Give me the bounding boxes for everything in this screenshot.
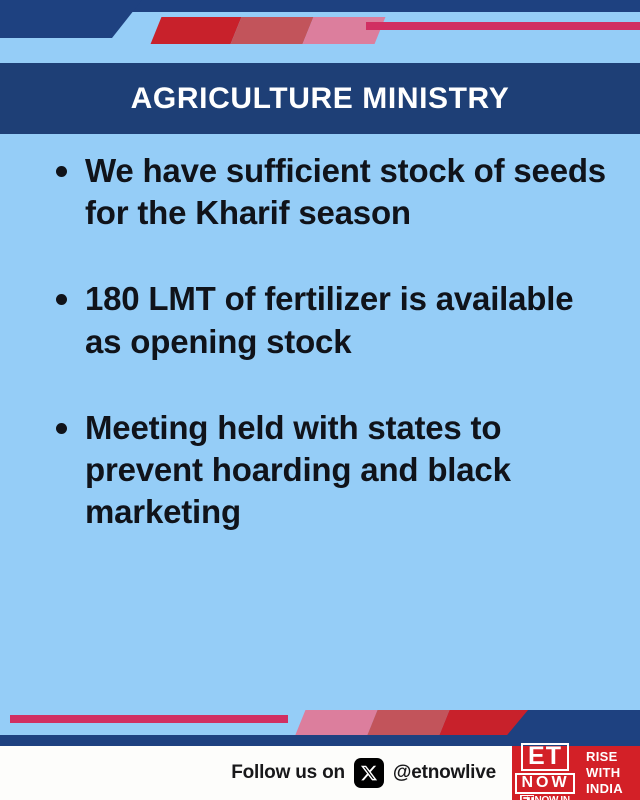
list-item-text: 180 LMT of fertilizer is available as op… — [85, 278, 606, 362]
etnow-logo-website-suffix: NOW.IN — [534, 795, 569, 800]
social-handle[interactable]: @etnowlive — [393, 762, 496, 784]
header-band: AGRICULTURE MINISTRY — [0, 63, 640, 134]
follow-label: Follow us on — [231, 762, 345, 784]
top-accent-bar-2 — [231, 17, 314, 44]
etnow-logo-et: ET — [521, 743, 569, 771]
list-item-text: We have sufficient stock of seeds for th… — [85, 150, 606, 234]
bullet-dot-icon — [56, 294, 67, 305]
list-item: 180 LMT of fertilizer is available as op… — [0, 278, 640, 362]
bottom-accent-bar-1 — [295, 710, 378, 737]
bottom-accent-bar-2 — [367, 710, 450, 737]
etnow-tagline-line-2: WITH — [586, 765, 620, 781]
etnow-tagline: RISE WITH INDIA — [578, 746, 640, 800]
etnow-logo[interactable]: ET NOW ETNOW.IN RISE WITH INDIA — [510, 746, 640, 800]
bottom-pink-rule — [10, 715, 288, 723]
etnow-tagline-line-3: INDIA — [586, 781, 623, 797]
etnow-logo-website-prefix: ET — [520, 795, 534, 800]
etnow-tagline-line-1: RISE — [586, 749, 618, 765]
list-item: Meeting held with states to prevent hoar… — [0, 407, 640, 534]
top-pink-rule — [366, 22, 640, 30]
list-item: We have sufficient stock of seeds for th… — [0, 150, 640, 234]
bullet-dot-icon — [56, 423, 67, 434]
etnow-logo-now: NOW — [515, 773, 574, 794]
top-accent-bar-1 — [151, 17, 242, 44]
list-item-text: Meeting held with states to prevent hoar… — [85, 407, 606, 534]
x-twitter-icon[interactable] — [354, 758, 384, 788]
news-card: AGRICULTURE MINISTRY We have sufficient … — [0, 0, 640, 800]
etnow-logo-mark: ET NOW ETNOW.IN — [512, 746, 578, 800]
footer-bar: Follow us on @etnowlive ET NOW ETNOW.IN … — [0, 746, 640, 800]
bullet-dot-icon — [56, 166, 67, 177]
bullet-list: We have sufficient stock of seeds for th… — [0, 150, 640, 578]
etnow-logo-website: ETNOW.IN — [520, 796, 570, 800]
page-title: AGRICULTURE MINISTRY — [131, 82, 510, 116]
social-follow-group: Follow us on @etnowlive — [0, 758, 510, 788]
top-navy-wedge — [0, 0, 142, 38]
